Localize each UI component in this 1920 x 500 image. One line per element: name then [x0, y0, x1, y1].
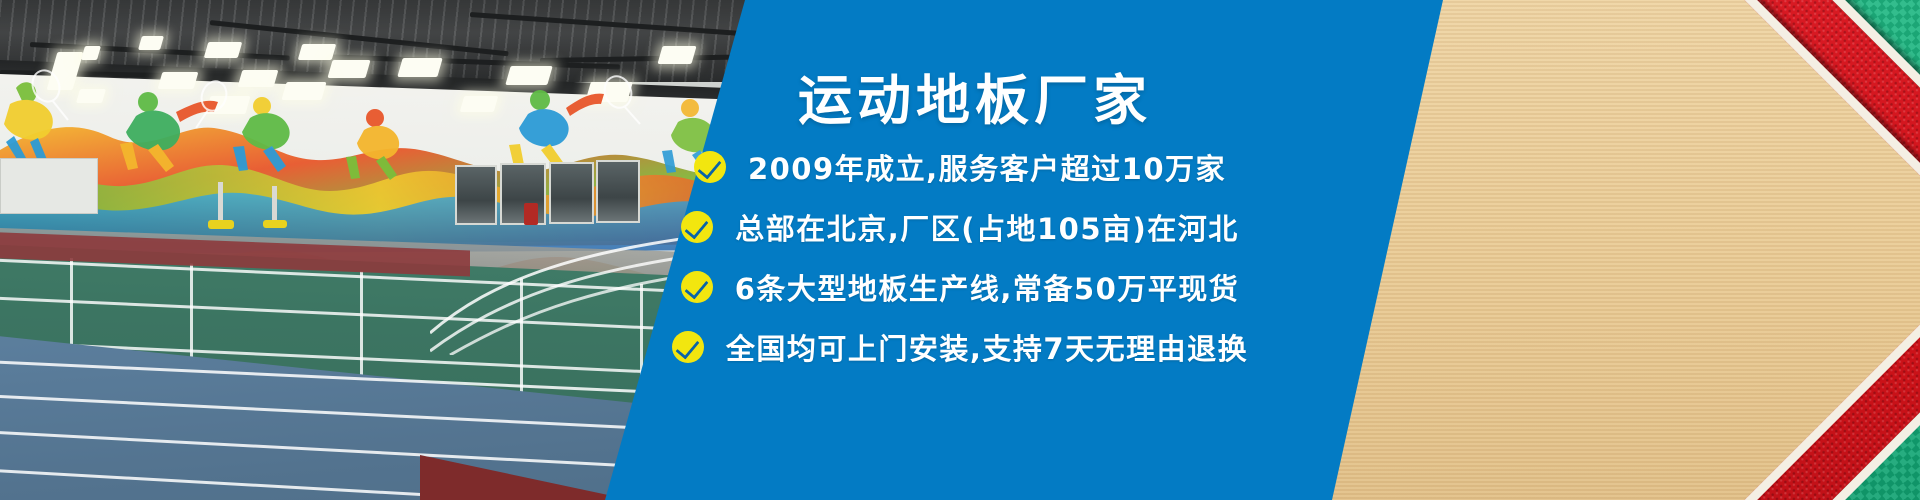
check-circle-icon	[672, 331, 704, 363]
feature-text: 6条大型地板生产线,常备50万平现货	[735, 266, 1240, 308]
feature-item: 总部在北京,厂区(占地105亩)在河北	[0, 200, 1920, 254]
feature-list: 2009年成立,服务客户超过10万家 总部在北京,厂区(占地105亩)在河北 6…	[0, 140, 1920, 380]
check-circle-icon	[694, 151, 726, 183]
panel-content: 运动地板厂家 2009年成立,服务客户超过10万家 总部在北京,厂区(占地105…	[0, 0, 1920, 500]
check-circle-icon	[681, 271, 713, 303]
feature-text: 2009年成立,服务客户超过10万家	[748, 146, 1226, 188]
feature-item: 2009年成立,服务客户超过10万家	[0, 140, 1920, 194]
feature-text: 全国均可上门安装,支持7天无理由退换	[726, 326, 1248, 368]
feature-item: 全国均可上门安装,支持7天无理由退换	[0, 320, 1920, 374]
feature-item: 6条大型地板生产线,常备50万平现货	[0, 260, 1920, 314]
feature-text: 总部在北京,厂区(占地105亩)在河北	[735, 206, 1239, 248]
page-title: 运动地板厂家	[0, 56, 1920, 135]
promo-banner: 运动地板厂家 2009年成立,服务客户超过10万家 总部在北京,厂区(占地105…	[0, 0, 1920, 500]
check-circle-icon	[681, 211, 713, 243]
